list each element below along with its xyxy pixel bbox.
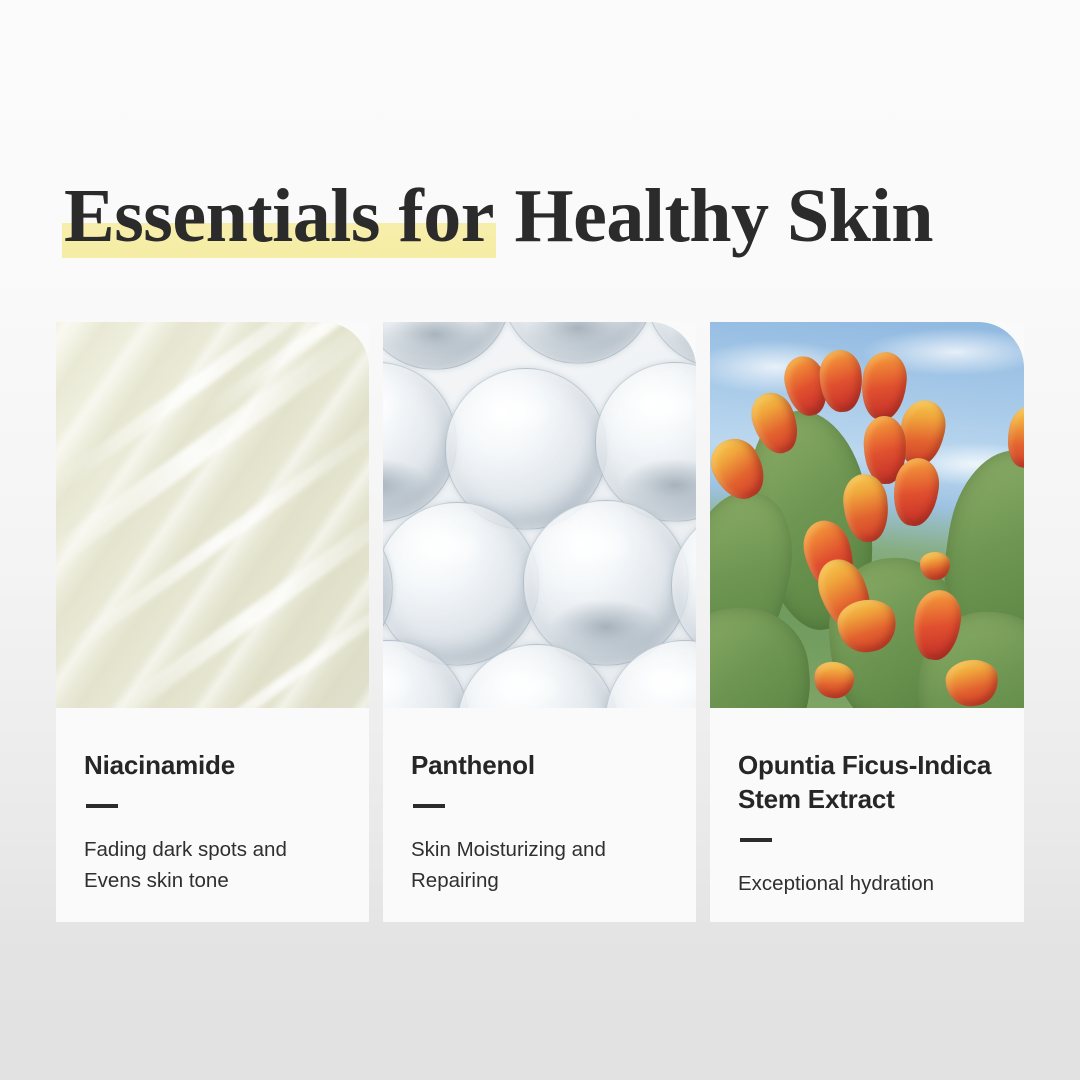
card-divider [86, 804, 118, 808]
ingredient-card-list: Niacinamide Fading dark spots and Evens … [56, 322, 1024, 922]
card-body: Panthenol Skin Moisturizing and Repairin… [383, 708, 696, 922]
ingredient-benefits-page: Essentials for Healthy Skin Niacinamide … [0, 0, 1080, 1080]
card-title: Opuntia Ficus-Indica Stem Extract [738, 748, 998, 816]
cream-texture-image [56, 322, 369, 708]
ingredient-card-niacinamide[interactable]: Niacinamide Fading dark spots and Evens … [56, 322, 369, 922]
cactus-fruit [920, 552, 950, 580]
gel-spheres-image [383, 322, 696, 708]
headline-text: Essentials for Healthy Skin [64, 168, 1024, 264]
card-body: Opuntia Ficus-Indica Stem Extract Except… [710, 708, 1024, 922]
card-description: Skin Moisturizing and Repairing [411, 834, 670, 896]
gel-sphere [523, 500, 689, 666]
card-title: Niacinamide [84, 748, 343, 782]
card-body: Niacinamide Fading dark spots and Evens … [56, 708, 369, 922]
card-description: Exceptional hydration [738, 868, 998, 899]
card-title: Panthenol [411, 748, 670, 782]
ingredient-card-panthenol[interactable]: Panthenol Skin Moisturizing and Repairin… [383, 322, 696, 922]
card-description: Fading dark spots and Evens skin tone [84, 834, 343, 896]
prickly-pear-cactus-image [710, 322, 1024, 708]
card-divider [740, 838, 772, 842]
headline-rest-part: Healthy Skin [496, 174, 933, 258]
ingredient-card-opuntia-ficus-indica-stem-extract[interactable]: Opuntia Ficus-Indica Stem Extract Except… [710, 322, 1024, 922]
headline-highlighted-part: Essentials for [62, 174, 496, 258]
card-divider [413, 804, 445, 808]
page-title: Essentials for Healthy Skin [64, 168, 1024, 278]
